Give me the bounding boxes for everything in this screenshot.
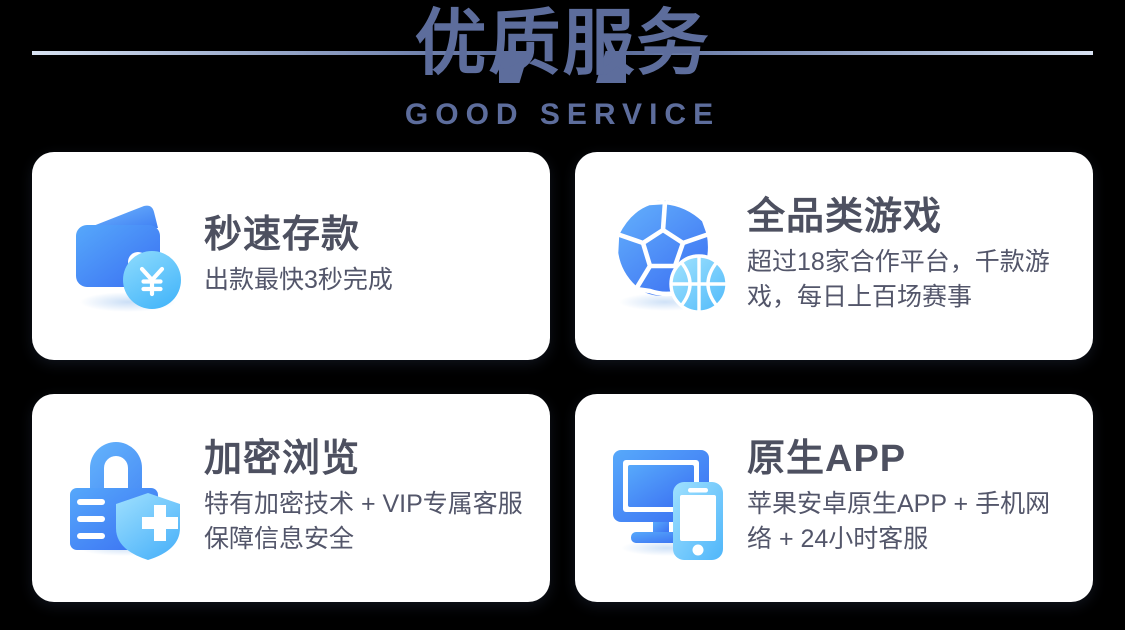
card-text: 原生APP 苹果安卓原生APP + 手机网络 + 24小时客服 [747,438,1067,558]
promo-banner: 优质服务 GOOD SERVICE [0,0,1125,630]
card-desc: 苹果安卓原生APP + 手机网络 + 24小时客服 [747,487,1067,558]
feature-card-games[interactable]: 全品类游戏 超过18家合作平台，千款游戏，每日上百场赛事 [575,152,1093,360]
lock-shield-icon [62,432,194,564]
feature-card-encryption[interactable]: 加密浏览 特有加密技术 + VIP专属客服保障信息安全 [32,394,550,602]
feature-card-grid: 秒速存款 出款最快3秒完成 [32,152,1093,602]
wallet-yen-icon [62,190,194,322]
page-title: 优质服务 [0,8,1125,80]
card-title: 原生APP [747,438,1067,481]
page-subtitle: GOOD SERVICE [0,100,1125,130]
card-title: 秒速存款 [204,214,524,257]
card-title: 全品类游戏 [747,196,1067,239]
card-text: 秒速存款 出款最快3秒完成 [204,214,524,298]
card-text: 加密浏览 特有加密技术 + VIP专属客服保障信息安全 [204,438,524,558]
feature-card-native-app[interactable]: 原生APP 苹果安卓原生APP + 手机网络 + 24小时客服 [575,394,1093,602]
feature-card-deposit[interactable]: 秒速存款 出款最快3秒完成 [32,152,550,360]
card-desc: 超过18家合作平台，千款游戏，每日上百场赛事 [747,245,1067,316]
header: 优质服务 GOOD SERVICE [0,0,1125,148]
card-desc: 特有加密技术 + VIP专属客服保障信息安全 [204,487,524,558]
card-desc: 出款最快3秒完成 [204,263,524,299]
soccer-basketball-icon [605,190,737,322]
monitor-phone-icon [605,432,737,564]
card-title: 加密浏览 [204,438,524,481]
card-text: 全品类游戏 超过18家合作平台，千款游戏，每日上百场赛事 [747,196,1067,316]
